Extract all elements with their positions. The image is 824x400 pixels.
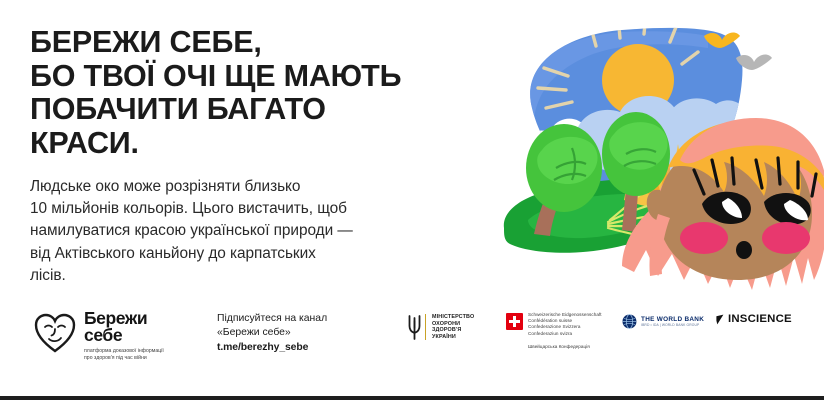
inscience-name: INSCIENCE [728,314,792,325]
world-bank-text: THE WORLD BANK IBRD • IDA | WORLD BANK G… [641,316,704,328]
telegram-link[interactable]: t.me/berezhy_sebe [217,341,367,355]
globe-icon [622,314,637,329]
world-bank-subtitle: IBRD • IDA | WORLD BANK GROUP [641,323,704,328]
swiss-names: Schweizerische Eidgenossenschaft Confédé… [528,312,602,337]
world-bank-name: THE WORLD BANK [641,316,704,323]
swiss-name-ua: Швейцарська Конфедерація [528,344,602,350]
blush-right [762,222,810,254]
brand-tagline: платформа доказової інформації про здоро… [84,348,164,361]
poster-canvas: БЕРЕЖИ СЕБЕ, БО ТВОЇ ОЧІ ЩЕ МАЮТЬ ПОБАЧИ… [0,0,824,400]
headline-block: БЕРЕЖИ СЕБЕ, БО ТВОЇ ОЧІ ЩЕ МАЮТЬ ПОБАЧИ… [30,26,500,160]
page-title: БЕРЕЖИ СЕБЕ, БО ТВОЇ ОЧІ ЩЕ МАЮТЬ ПОБАЧИ… [30,26,500,160]
ministry-of-health-logo: МІНІСТЕРСТВО ОХОРОНИ ЗДОРОВ'Я УКРАЇНИ [408,314,474,340]
heart-face-icon [33,312,77,354]
bottom-edge-band [0,396,824,400]
brand-text: Бережи себе платформа доказової інформац… [84,310,164,361]
trident-icon [408,314,421,340]
swiss-flag-icon [506,313,523,330]
body-paragraph: Людське око може розрізняти близько 10 м… [30,176,470,287]
blush-left [680,222,728,254]
footer-logos: Бережи себе платформа доказової інформац… [0,300,824,380]
inscience-logo: INSCIENCE [713,314,792,325]
telegram-line-1: Підписуйтеся на канал [217,312,367,326]
swiss-confederation-logo: Schweizerische Eidgenossenschaft Confédé… [506,312,602,350]
ministry-name: МІНІСТЕРСТВО ОХОРОНИ ЗДОРОВ'Я УКРАЇНИ [430,314,474,340]
ministry-divider [425,314,426,340]
brand-logo[interactable]: Бережи себе платформа доказової інформац… [33,310,164,361]
world-bank-logo: THE WORLD BANK IBRD • IDA | WORLD BANK G… [622,314,704,329]
mouth [736,241,752,259]
inscience-mark-icon [713,314,724,325]
brand-name: Бережи себе [84,310,164,344]
telegram-line-2: «Бережи себе» [217,326,367,340]
nature-and-face-illustration [472,8,824,298]
telegram-callout[interactable]: Підписуйтеся на канал «Бережи себе» t.me… [217,312,367,355]
swiss-text-block: Schweizerische Eidgenossenschaft Confédé… [528,312,602,350]
